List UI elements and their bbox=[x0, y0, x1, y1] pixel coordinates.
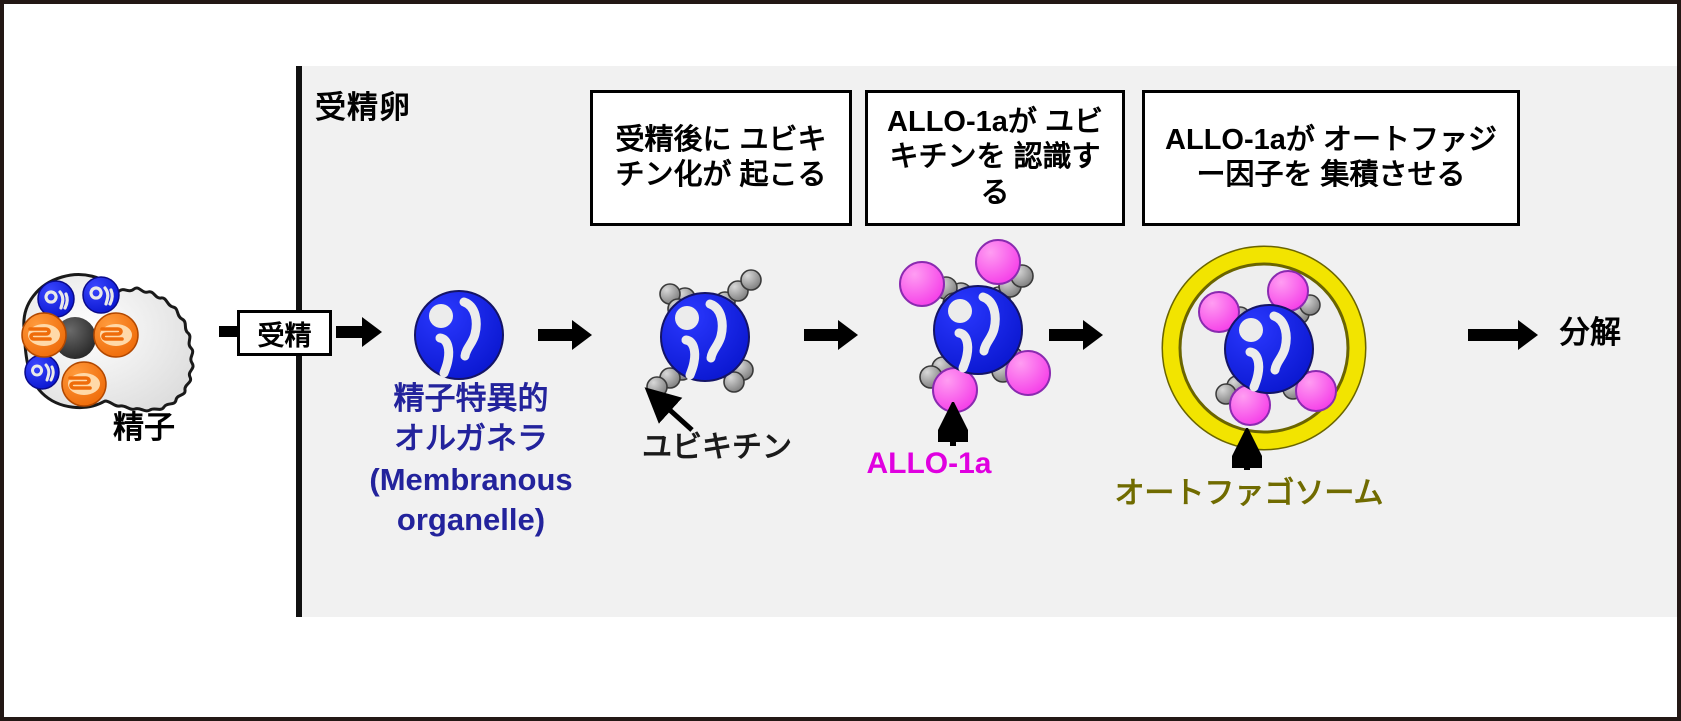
stage-4-autophagosome bbox=[1149, 236, 1379, 471]
allo1a-label: ALLO-1a bbox=[819, 447, 1039, 481]
figure-canvas: 受精卵 受精後に ユビキチン化が 起こる ALLO-1aが ユビキチンを 認識す… bbox=[0, 0, 1681, 721]
step-box-allo-recognition: ALLO-1aが ユビキチンを 認識する bbox=[865, 90, 1125, 226]
arrow-to-stage-4 bbox=[1049, 320, 1105, 350]
sperm-mitochondrion bbox=[22, 313, 66, 357]
sperm-membranous-organelle bbox=[25, 355, 59, 389]
ubiquitin-label: ユビキチン bbox=[617, 422, 817, 466]
arrow-to-degradation bbox=[1468, 320, 1540, 350]
degradation-label: 分解 bbox=[1559, 307, 1669, 352]
fertilization-box: 受精 bbox=[237, 310, 332, 356]
stage-2-ubiquitinated-organelle bbox=[612, 252, 792, 427]
allo1a-sphere bbox=[976, 240, 1020, 284]
sperm-membranous-organelle bbox=[83, 277, 119, 313]
membranous-organelle-label: 精子特異的 オルガネラ (Membranous organelle) bbox=[336, 379, 606, 540]
sperm-mitochondrion bbox=[62, 362, 106, 406]
fertilized-egg-label: 受精卵 bbox=[315, 82, 411, 127]
arrow-to-stage-2 bbox=[538, 320, 594, 350]
step-box-ubiquitination: 受精後に ユビキチン化が 起こる bbox=[590, 90, 852, 226]
allo1a-sphere bbox=[900, 262, 944, 306]
sperm-mitochondrion bbox=[94, 313, 138, 357]
sperm-label: 精子 bbox=[74, 402, 214, 447]
arrow-to-stage-1 bbox=[336, 317, 382, 347]
step-box-autophagy-recruitment: ALLO-1aが オートファジー因子を 集積させる bbox=[1142, 90, 1520, 226]
sperm-membranous-organelle bbox=[38, 281, 74, 317]
sperm-cell-illustration bbox=[12, 262, 227, 422]
allo1a-pointer-arrow bbox=[938, 402, 968, 448]
autophagosome-pointer-arrow bbox=[1232, 428, 1262, 472]
autophagosome-label: オートファゴソーム bbox=[1084, 468, 1414, 512]
